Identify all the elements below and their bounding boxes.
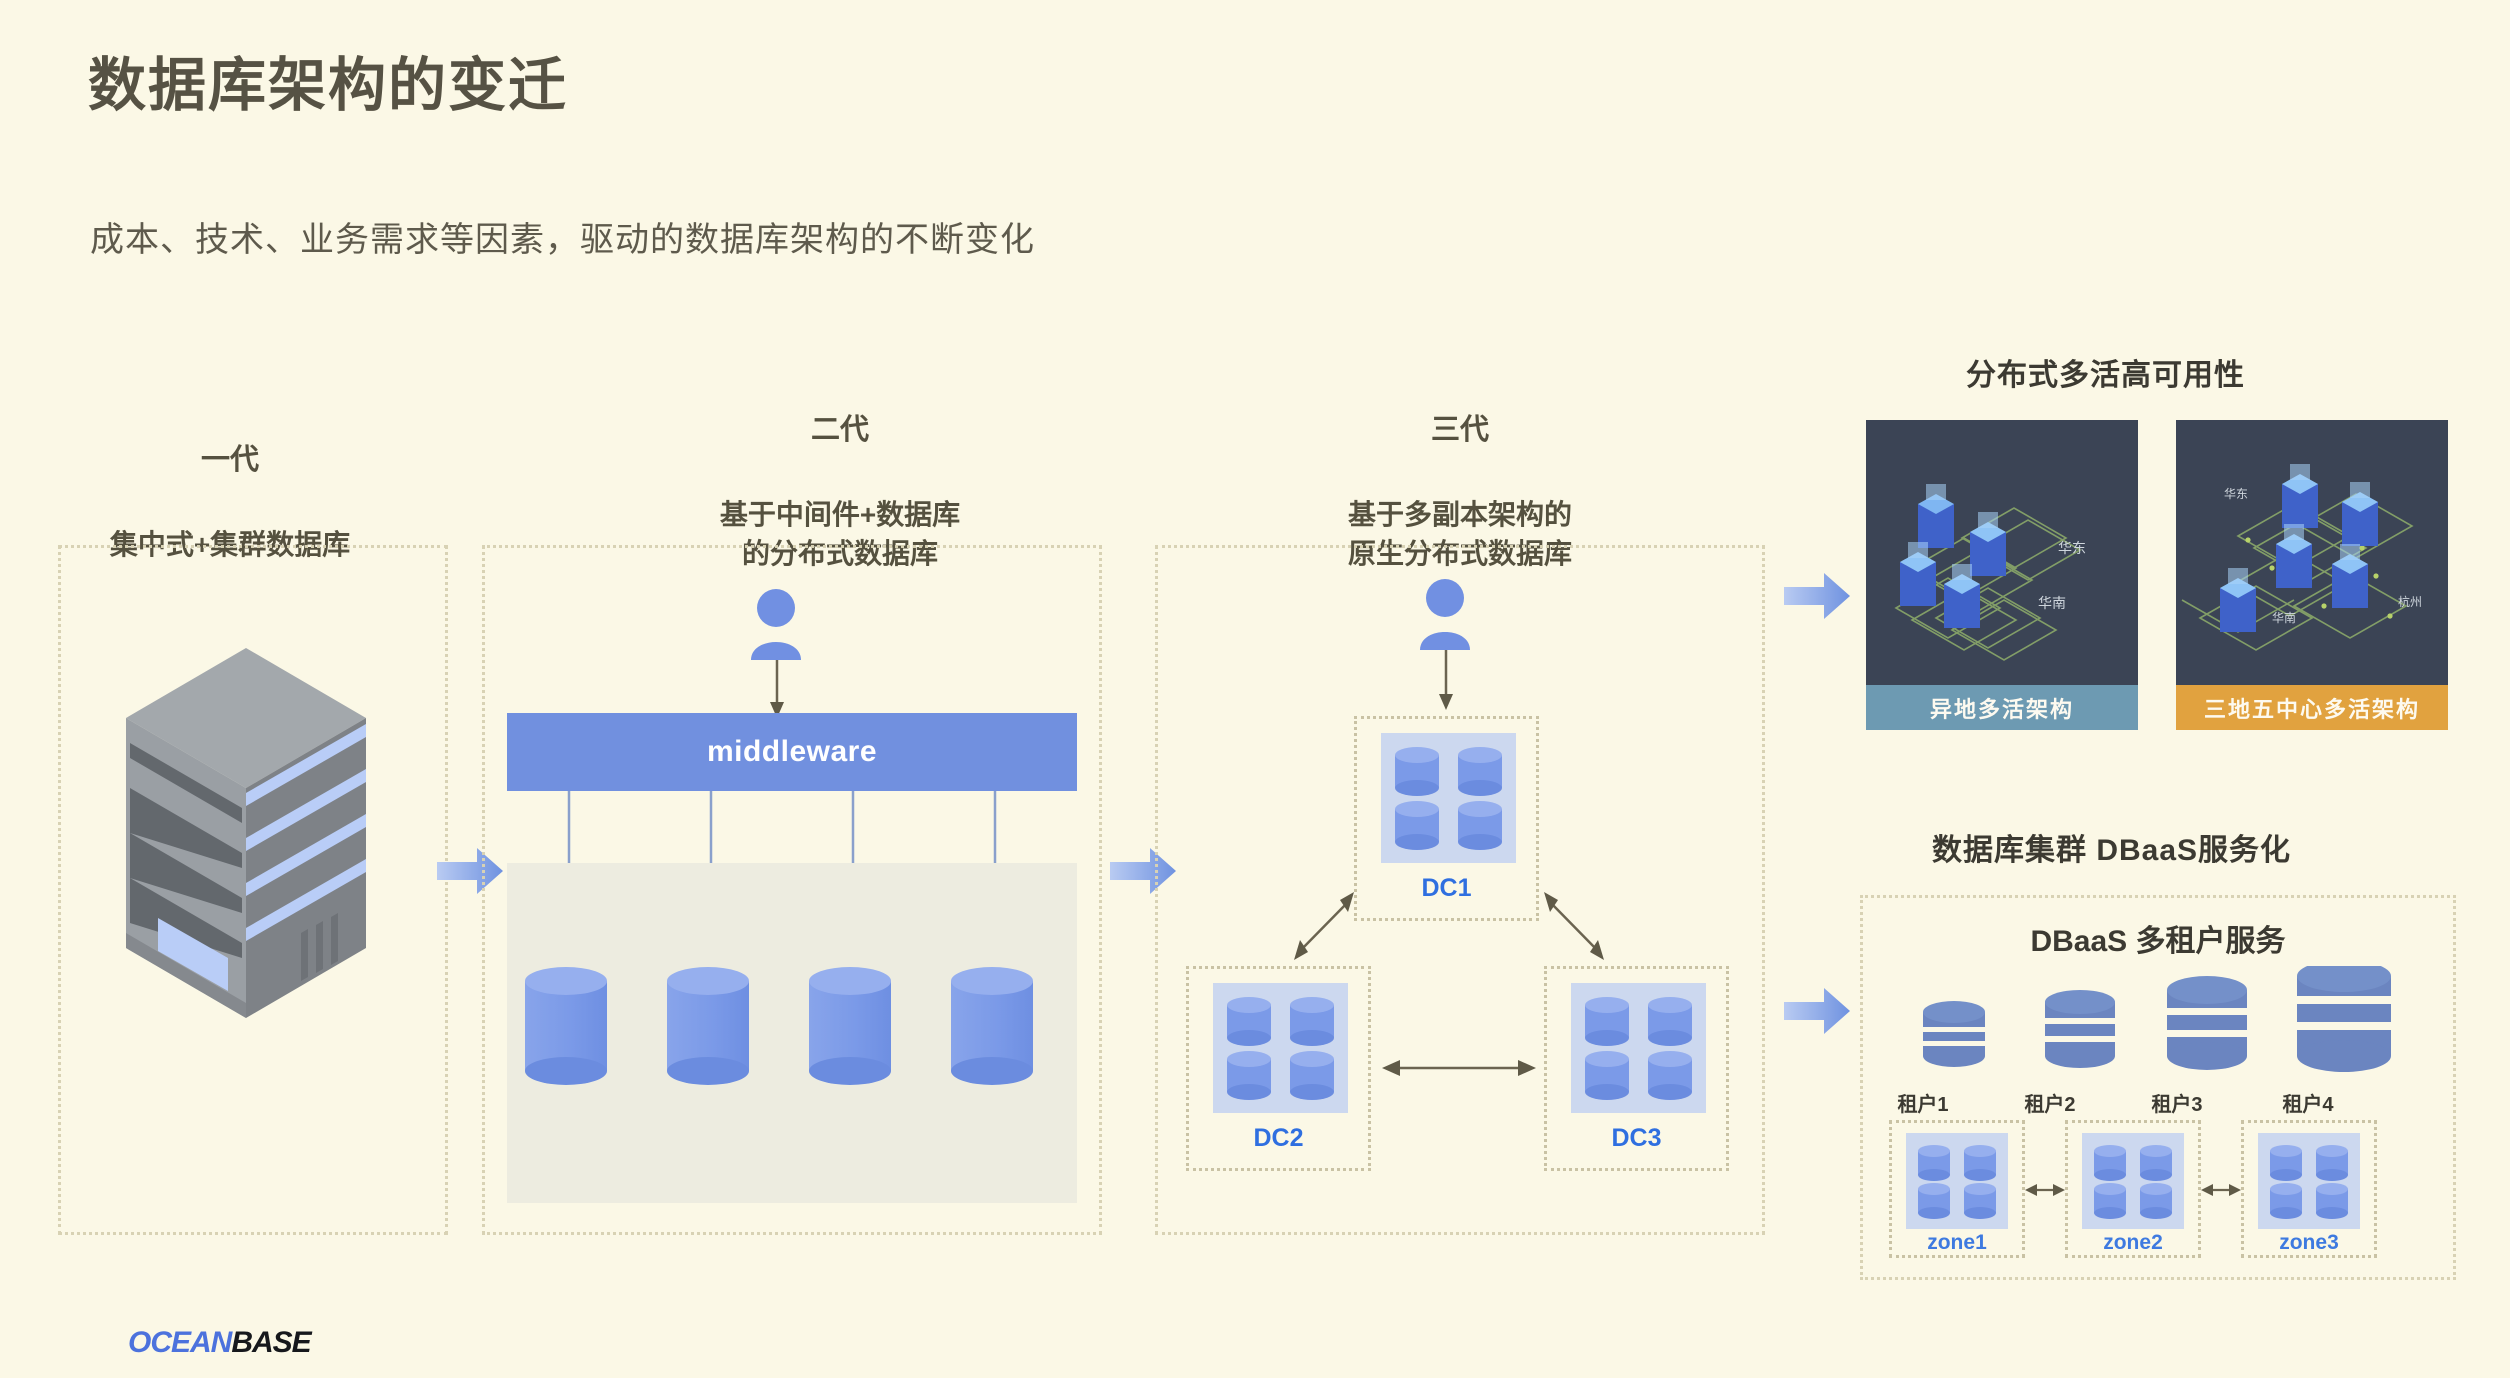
ha-card-2-caption: 三地五中心多活架构 (2204, 692, 2420, 724)
generation-3-panel: DC1 DC2 (1155, 545, 1765, 1235)
zone-3-node-panel (2258, 1133, 2360, 1229)
generation-1-panel (58, 545, 448, 1235)
svg-text:华南: 华南 (2038, 595, 2066, 611)
logo-base-text: BASE (231, 1326, 310, 1359)
zone-1-node-panel (1906, 1133, 2008, 1229)
zone-3-cylinders-icon (2258, 1133, 2360, 1229)
page-title: 数据库架构的变迁 (88, 38, 568, 122)
ha-card-1[interactable]: 华东 华南 异地多活架构 (1866, 420, 2138, 730)
page-subtitle: 成本、技术、业务需求等因素，驱动的数据库架构的不断变化 (90, 212, 1035, 261)
tenant-3-label: 租户3 (2117, 1088, 2237, 1117)
zone-sync-arrows-icon (2023, 1180, 2245, 1200)
ha-card-2-image: 华东 杭州 华南 (2176, 420, 2448, 685)
middleware-label: middleware (707, 735, 877, 769)
dbaas-panel: DBaaS 多租户服务 (1860, 895, 2456, 1280)
generation-2-title: 二代 (580, 410, 1100, 451)
generation-2-caption: 二代 基于中间件+数据库 的分布式数据库 (580, 370, 1100, 574)
server-rack-icon (116, 633, 376, 1033)
arrow-gen3-to-high-availability-icon (1784, 573, 1850, 619)
ha-card-1-caption: 异地多活架构 (1930, 692, 2074, 724)
three-site-five-center-topology-icon: 华东 杭州 华南 (2176, 420, 2448, 685)
slide-canvas: 数据库架构的变迁 成本、技术、业务需求等因素，驱动的数据库架构的不断变化 一代 … (0, 0, 2510, 1378)
generation-1-caption: 一代 集中式+集群数据库 (20, 400, 440, 564)
ha-card-1-image: 华东 华南 (1866, 420, 2138, 685)
zone-2-label: zone2 (2068, 1231, 2198, 1255)
generation-1-title: 一代 (20, 440, 440, 481)
arrow-user-to-middleware-icon (769, 660, 785, 720)
ha-card-2-caption-bar: 三地五中心多活架构 (2176, 685, 2448, 730)
high-availability-heading: 分布式多活高可用性 (1966, 350, 2245, 394)
zone-1[interactable]: zone1 (1889, 1120, 2025, 1258)
tenant-cylinders-icon (1893, 966, 2433, 1076)
ha-card-1-caption-bar: 异地多活架构 (1866, 685, 2138, 730)
generation-3-caption: 三代 基于多副本架构的 原生分布式数据库 (1200, 370, 1720, 574)
oceanbase-logo: OCEANBASE (128, 1326, 311, 1360)
middleware-box[interactable]: middleware (507, 713, 1077, 791)
generation-3-title: 三代 (1200, 410, 1720, 451)
tenant-2-label: 租户2 (1990, 1088, 2110, 1117)
ha-card-2[interactable]: 华东 杭州 华南 三地五中心多活架构 (2176, 420, 2448, 730)
zone-3[interactable]: zone3 (2241, 1120, 2377, 1258)
zone-1-cylinders-icon (1906, 1133, 2008, 1229)
generation-2-shard-panel (507, 863, 1077, 1203)
shard-cylinders-group-icon (507, 863, 1077, 1203)
svg-text:华南: 华南 (2272, 610, 2296, 625)
zone-1-label: zone1 (1892, 1231, 2022, 1255)
tenant-4-label: 租户4 (2248, 1088, 2368, 1117)
zone-3-label: zone3 (2244, 1231, 2374, 1255)
svg-text:华东: 华东 (2224, 487, 2248, 501)
svg-text:杭州: 杭州 (2398, 594, 2422, 609)
svg-text:华东: 华东 (2058, 540, 2086, 556)
dbaas-heading: 数据库集群 DBaaS服务化 (1932, 825, 2291, 869)
dbaas-inner-title: DBaaS 多租户服务 (1863, 916, 2453, 960)
arrow-gen3-to-dbaas-icon (1784, 988, 1850, 1034)
user-icon (747, 588, 805, 660)
generation-2-panel: middleware (482, 545, 1102, 1235)
tenant-1-label: 租户1 (1863, 1088, 1983, 1117)
logo-ocean-text: OCEAN (128, 1326, 231, 1359)
multi-active-topology-icon: 华东 华南 (1866, 420, 2138, 685)
dc-replication-arrows-icon (1158, 548, 1768, 1238)
